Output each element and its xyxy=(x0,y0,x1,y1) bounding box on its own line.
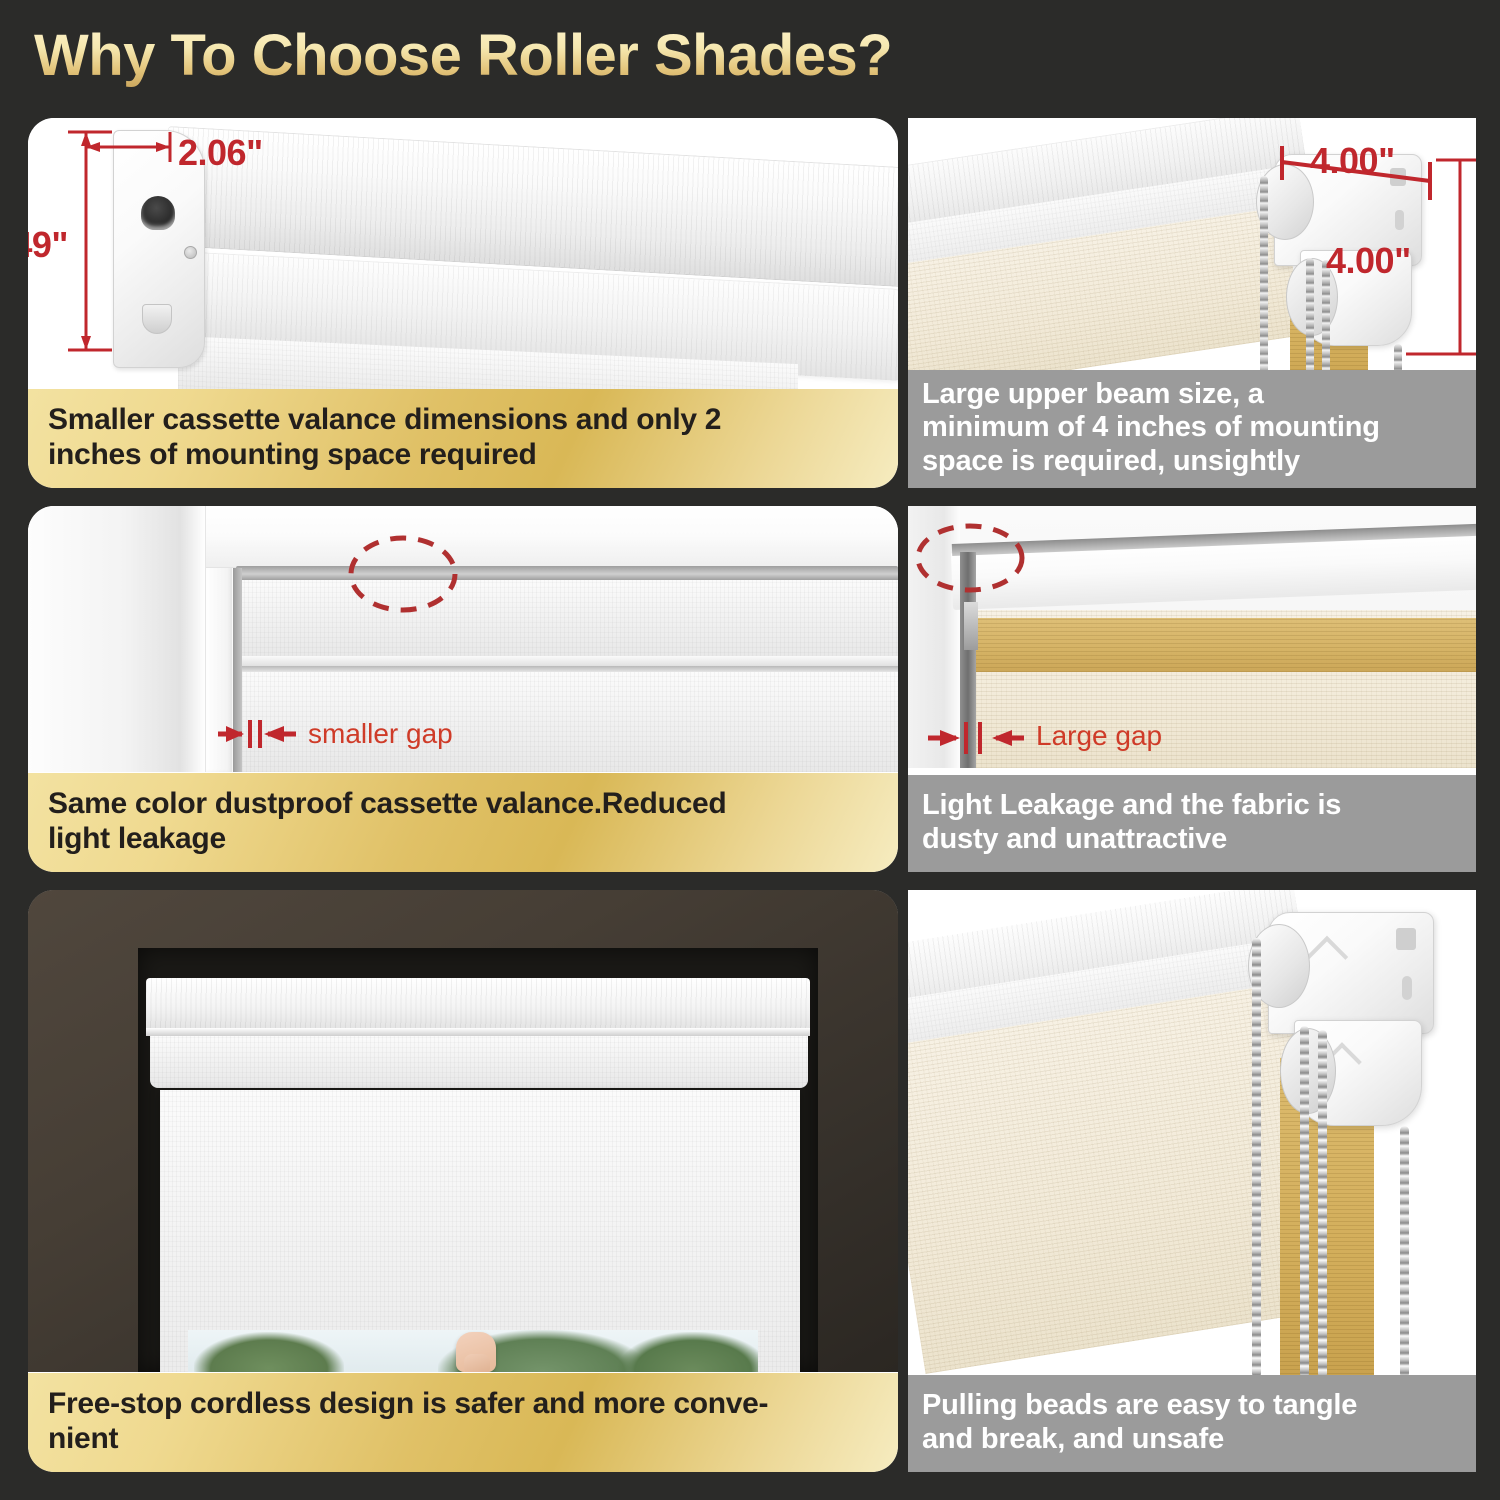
bead-chain xyxy=(1318,1030,1327,1378)
panel-2-caption: Large upper beam size, a minimum of 4 in… xyxy=(908,370,1476,488)
tree-foliage xyxy=(618,1332,758,1372)
bead-chain xyxy=(1300,1026,1309,1378)
window-outdoor-strip xyxy=(188,1330,758,1372)
panel-pulling-beads: Pulling beads are easy to tangle and bre… xyxy=(908,890,1476,1472)
panel-5-photo xyxy=(28,890,898,1372)
tree-foliage xyxy=(194,1332,344,1372)
panel-5-caption: Free-stop cordless design is safer and m… xyxy=(28,1373,898,1472)
panel-4-annotations xyxy=(908,506,1476,768)
caption-line: light leakage xyxy=(48,822,880,857)
caption-line: Free-stop cordless design is safer and m… xyxy=(48,1387,880,1422)
caption-line: minimum of 4 inches of mounting xyxy=(922,411,1464,444)
bead-chain xyxy=(1400,1126,1409,1378)
caption-line: inches of mounting space required xyxy=(48,438,880,473)
gap-label: smaller gap xyxy=(308,718,453,750)
panel-dustproof-valance: smaller gap Same color dustproof cassett… xyxy=(28,506,898,872)
caption-line: nient xyxy=(48,1422,880,1457)
bracket-slot xyxy=(1402,976,1412,1000)
caption-line: Smaller cassette valance dimensions and … xyxy=(48,403,880,438)
panel-1-caption: Smaller cassette valance dimensions and … xyxy=(28,389,898,488)
page-title: Why To Choose Roller Shades? xyxy=(34,22,892,89)
dimension-label-width: 4.00" xyxy=(1310,140,1395,182)
panel-1-dimension-lines xyxy=(28,118,898,390)
panel-4-photo: Large gap xyxy=(908,506,1476,768)
bead-chain xyxy=(1252,938,1261,1378)
panel-smaller-cassette: 2.06" 5.49" Smaller cassette valance dim… xyxy=(28,118,898,488)
dimension-label-height: 4.00" xyxy=(1326,240,1411,282)
caption-line: Large upper beam size, a xyxy=(922,378,1464,411)
headrail-lower-roll xyxy=(150,1036,808,1088)
panel-2-photo: 4.00" 4.00" xyxy=(908,118,1476,386)
panel-6-caption: Pulling beads are easy to tangle and bre… xyxy=(908,1375,1476,1472)
caption-line: Same color dustproof cassette valance.Re… xyxy=(48,787,880,822)
infographic-page: Why To Choose Roller Shades? xyxy=(0,0,1500,1500)
caption-line: dusty and unattractive xyxy=(922,823,1464,856)
dimension-label-width: 2.06" xyxy=(178,132,263,174)
caption-line: and break, and unsafe xyxy=(922,1423,1464,1456)
panel-1-photo: 2.06" 5.49" xyxy=(28,118,898,390)
shade-fabric-cream xyxy=(908,982,1340,1374)
panel-3-caption: Same color dustproof cassette valance.Re… xyxy=(28,773,898,872)
forearm xyxy=(464,1354,490,1372)
highlight-circle-icon xyxy=(28,506,898,772)
panel-4-caption: Light Leakage and the fabric is dusty an… xyxy=(908,775,1476,872)
panel-6-photo xyxy=(908,890,1476,1378)
dimension-label-height: 5.49" xyxy=(28,224,68,266)
panel-light-leakage: Large gap Light Leakage and the fabric i… xyxy=(908,506,1476,872)
panel-3-photo: smaller gap xyxy=(28,506,898,772)
panel-large-upper-beam: 4.00" 4.00" Large upper beam size, a min… xyxy=(908,118,1476,488)
cassette-headrail xyxy=(146,978,810,1030)
caption-line: Pulling beads are easy to tangle xyxy=(922,1389,1464,1422)
bracket-slot xyxy=(1396,928,1416,950)
caption-line: Light Leakage and the fabric is xyxy=(922,789,1464,822)
panel-cordless-design: Free-stop cordless design is safer and m… xyxy=(28,890,898,1472)
gap-label: Large gap xyxy=(1036,720,1162,752)
headrail-groove xyxy=(146,1028,810,1036)
caption-line: space is required, unsightly xyxy=(922,445,1464,478)
